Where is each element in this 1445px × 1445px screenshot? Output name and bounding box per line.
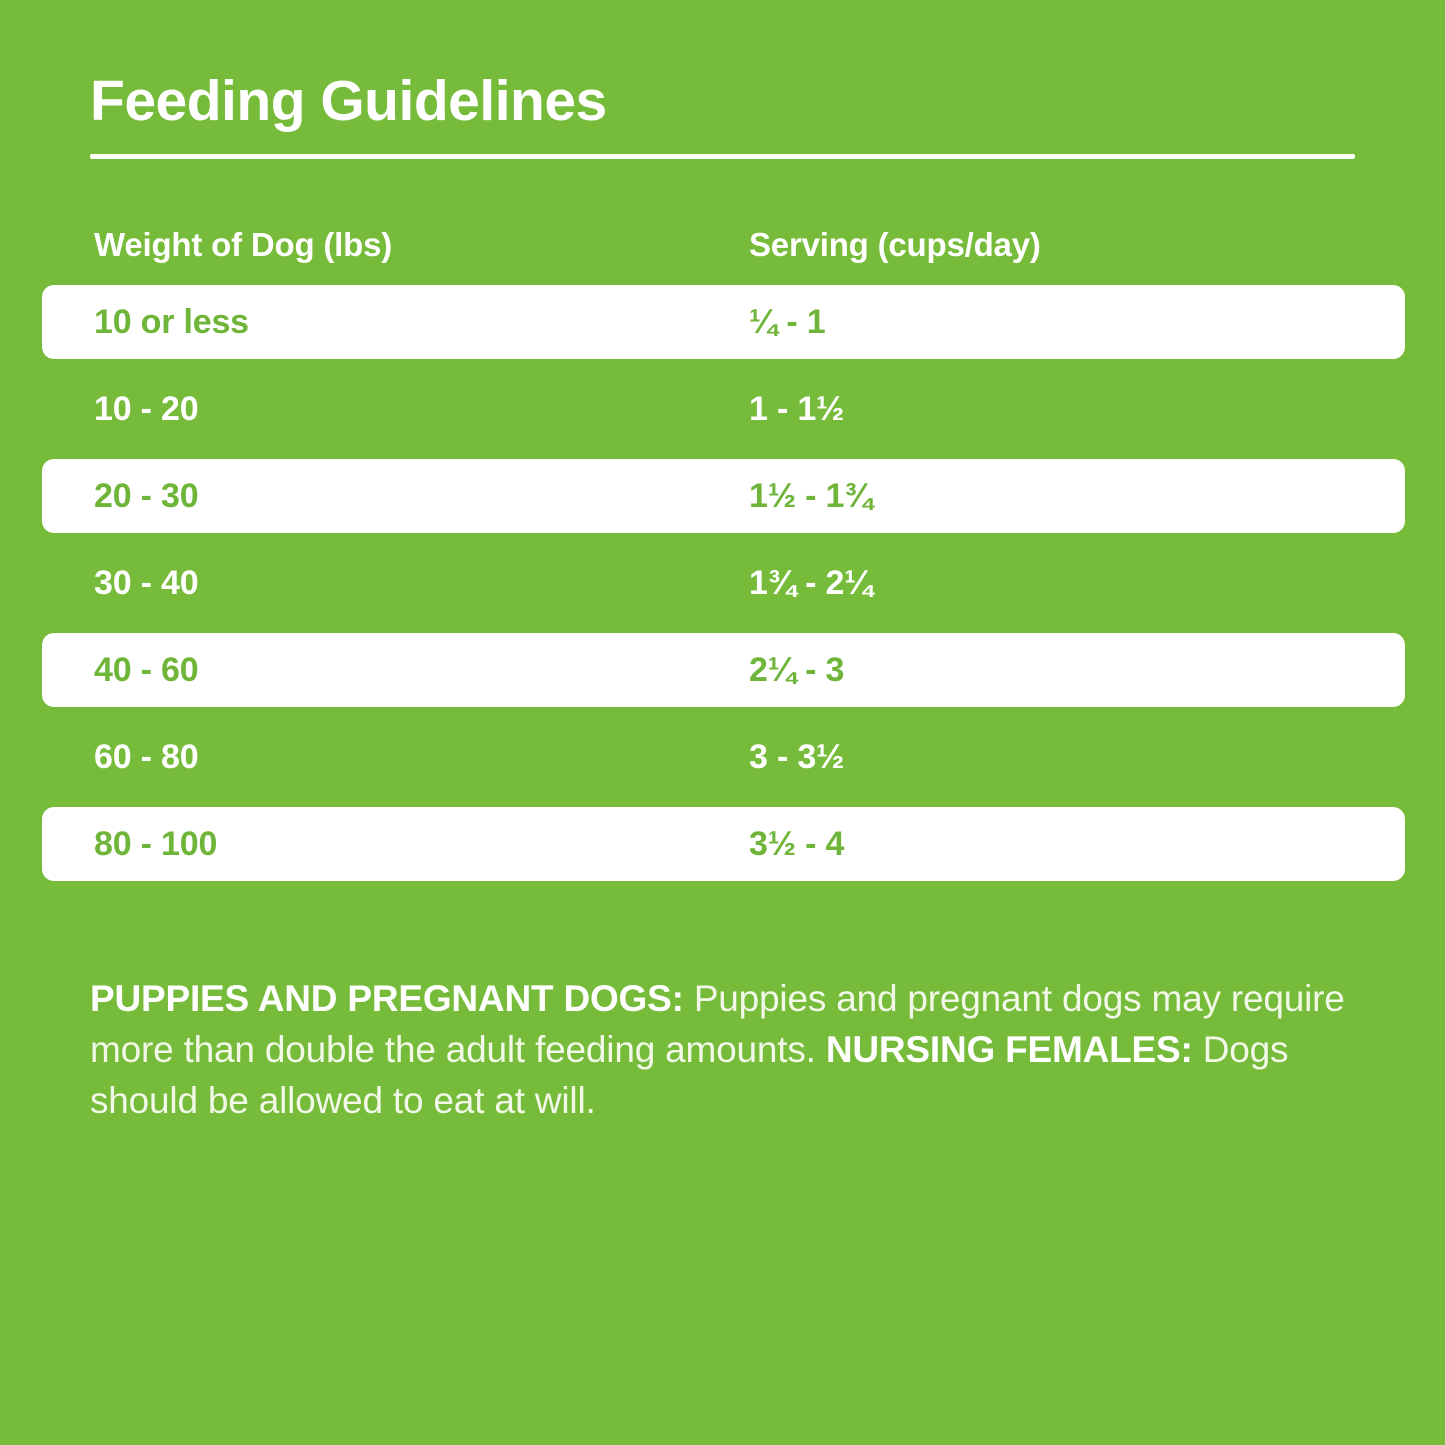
cell-weight: 10 or less <box>94 303 749 342</box>
page-title: Feeding Guidelines <box>90 72 1355 132</box>
cell-weight: 30 - 40 <box>94 564 749 603</box>
table-row: 10 or less ¼ - 1 <box>42 285 1405 359</box>
feeding-footnote: PUPPIES AND PREGNANT DOGS: Puppies and p… <box>90 973 1375 1126</box>
title-block: Feeding Guidelines <box>90 72 1355 159</box>
table-row: 40 - 60 2¼ - 3 <box>42 633 1405 707</box>
cell-weight: 80 - 100 <box>94 825 749 864</box>
column-header-weight: Weight of Dog (lbs) <box>94 226 749 264</box>
table-row: 10 - 20 1 - 1½ <box>42 372 1405 446</box>
cell-weight: 10 - 20 <box>94 390 749 429</box>
footnote-label-nursing: NURSING FEMALES: <box>826 1029 1193 1070</box>
table-row: 20 - 30 1½ - 1¾ <box>42 459 1405 533</box>
cell-weight: 60 - 80 <box>94 738 749 777</box>
cell-serving: ¼ - 1 <box>749 303 1405 342</box>
feeding-guidelines-panel: Feeding Guidelines Weight of Dog (lbs) S… <box>0 0 1445 1445</box>
cell-serving: 1½ - 1¾ <box>749 477 1405 516</box>
cell-weight: 40 - 60 <box>94 651 749 690</box>
cell-weight: 20 - 30 <box>94 477 749 516</box>
cell-serving: 3 - 3½ <box>749 738 1405 777</box>
footnote-label-puppies: PUPPIES AND PREGNANT DOGS: <box>90 978 684 1019</box>
cell-serving: 2¼ - 3 <box>749 651 1405 690</box>
feeding-table: Weight of Dog (lbs) Serving (cups/day) 1… <box>42 205 1405 894</box>
table-row: 60 - 80 3 - 3½ <box>42 720 1405 794</box>
cell-serving: 1¾ - 2¼ <box>749 564 1405 603</box>
cell-serving: 1 - 1½ <box>749 390 1405 429</box>
table-row: 80 - 100 3½ - 4 <box>42 807 1405 881</box>
table-header-row: Weight of Dog (lbs) Serving (cups/day) <box>42 205 1405 285</box>
table-row: 30 - 40 1¾ - 2¼ <box>42 546 1405 620</box>
column-header-serving: Serving (cups/day) <box>749 226 1405 264</box>
title-divider <box>90 154 1355 159</box>
cell-serving: 3½ - 4 <box>749 825 1405 864</box>
